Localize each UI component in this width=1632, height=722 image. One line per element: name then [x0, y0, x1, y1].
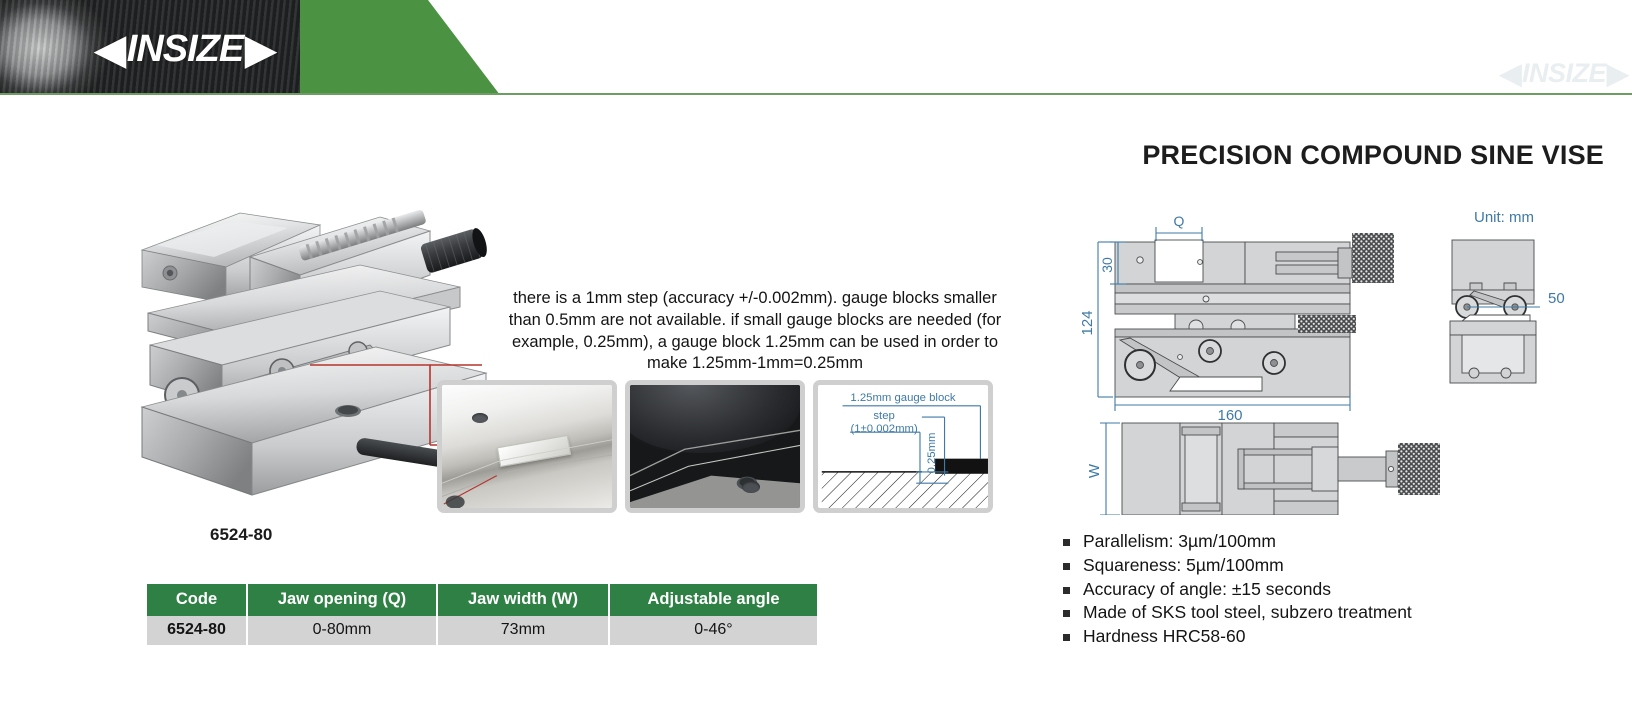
feature-item-hardness: Hardness HRC58-60	[1063, 625, 1583, 649]
table-header-jaw-width: Jaw width (W)	[437, 584, 609, 616]
dim-w-label: W	[1086, 463, 1103, 478]
watermark-left-arrow-icon: ◀	[1500, 60, 1521, 88]
table-header-jaw-opening: Jaw opening (Q)	[247, 584, 437, 616]
inset-photo-roller-closeup	[625, 380, 805, 513]
technical-drawing-svg: 124 30 160 Q	[1030, 195, 1630, 515]
specification-table: Code Jaw opening (Q) Jaw width (W) Adjus…	[147, 584, 817, 645]
header-divider	[0, 93, 1632, 95]
logo-wordmark: INSIZE	[127, 28, 243, 71]
step-dim-label-line1: step	[873, 410, 894, 422]
feature-item-material: Made of SKS tool steel, subzero treatmen…	[1063, 601, 1583, 625]
logo-right-arrow-icon: ▶	[245, 30, 275, 70]
block-height-dim-label: 0.25mm	[926, 433, 938, 474]
cell-code: 6524-80	[147, 616, 247, 645]
technical-drawings: 124 30 160 Q	[1030, 195, 1630, 515]
dim-q-label: Q	[1174, 213, 1185, 229]
inset-2-bore-hole	[742, 481, 760, 493]
logo-left-arrow-icon: ◀	[95, 30, 125, 70]
dim-height-30-label: 30	[1099, 257, 1115, 273]
header-green-chevron	[300, 0, 500, 95]
inset-1-overlay	[442, 385, 612, 511]
product-code-label: 6524-80	[210, 525, 272, 545]
watermark-right-arrow-icon: ▶	[1607, 60, 1628, 88]
inset-diagram-step-gauge-block: 1.25mm gauge block step (1±0.002mm) 0.25…	[813, 380, 993, 513]
dim-height-124-label: 124	[1079, 310, 1096, 335]
table-header-row: Code Jaw opening (Q) Jaw width (W) Adjus…	[147, 584, 817, 616]
dim-length-160-label: 160	[1217, 407, 1242, 424]
feature-item-angle-accuracy: Accuracy of angle: ±15 seconds	[1063, 578, 1583, 602]
feature-item-squareness: Squareness: 5µm/100mm	[1063, 554, 1583, 578]
inset-2-overlay	[630, 385, 800, 511]
dim-50-label: 50	[1548, 290, 1565, 307]
watermark-wordmark: INSIZE	[1522, 58, 1606, 89]
table-header-adjustable-angle: Adjustable angle	[609, 584, 817, 616]
product-description: there is a 1mm step (accuracy +/-0.002mm…	[505, 288, 1005, 375]
gauge-block-dim-label: 1.25mm gauge block	[850, 392, 955, 404]
inset-photo-gauge-block-on-step	[437, 380, 617, 513]
insize-watermark-logo: ◀ INSIZE ▶	[1500, 58, 1628, 89]
cell-jaw-opening: 0-80mm	[247, 616, 437, 645]
table-header-code: Code	[147, 584, 247, 616]
page-title: PRECISION COMPOUND SINE VISE	[1142, 140, 1604, 171]
cell-adjustable-angle: 0-46°	[609, 616, 817, 645]
insize-logo[interactable]: ◀ INSIZE ▶	[95, 28, 275, 71]
cell-jaw-width: 73mm	[437, 616, 609, 645]
step-gauge-block-diagram: 1.25mm gauge block step (1±0.002mm) 0.25…	[818, 385, 988, 511]
catalog-page: ◀ INSIZE ▶ ◀ INSIZE ▶ PRECISION COMPOUND…	[0, 0, 1632, 722]
table-row: 6524-80 0-80mm 73mm 0-46°	[147, 616, 817, 645]
unit-label: Unit: mm	[1474, 209, 1534, 226]
features-list: Parallelism: 3µm/100mm Squareness: 5µm/1…	[1063, 530, 1583, 649]
page-header: ◀ INSIZE ▶ ◀ INSIZE ▶	[0, 0, 1632, 95]
step-dim-label-line2: (1±0.002mm)	[850, 423, 918, 435]
feature-item-parallelism: Parallelism: 3µm/100mm	[1063, 530, 1583, 554]
